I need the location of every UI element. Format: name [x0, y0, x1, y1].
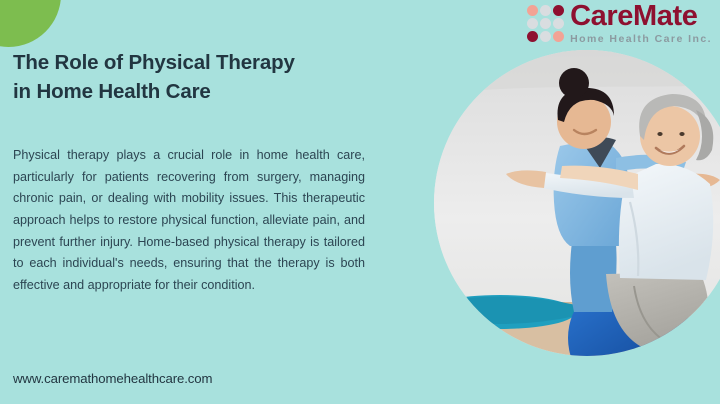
headline-line-1: The Role of Physical Therapy	[13, 51, 295, 74]
logo-dot	[553, 5, 564, 16]
logo-dot	[553, 31, 564, 42]
logo-dot	[553, 18, 564, 29]
page-title: The Role of Physical Therapy in Home Hea…	[13, 48, 368, 106]
logo-brand-name: CareMate	[570, 2, 697, 32]
headline-block: The Role of Physical Therapy in Home Hea…	[13, 48, 368, 106]
corner-accent-circle	[0, 0, 61, 47]
logo-dot	[540, 31, 551, 42]
logo-tagline: Home Health Care Inc.	[570, 34, 712, 45]
logo-wordmark: CareMate Home Health Care Inc.	[570, 2, 712, 44]
logo-dot	[527, 18, 538, 29]
logo-dot	[527, 5, 538, 16]
poster-canvas: CareMate Home Health Care Inc.	[0, 0, 720, 404]
website-url[interactable]: www.caremathomehealthcare.com	[13, 371, 212, 386]
logo-dot	[527, 31, 538, 42]
logo-dot	[540, 5, 551, 16]
logo-dot	[540, 18, 551, 29]
headline-line-2: in Home Health Care	[13, 80, 211, 103]
body-paragraph: Physical therapy plays a crucial role in…	[13, 145, 365, 297]
therapy-photo	[434, 50, 720, 356]
brand-logo[interactable]: CareMate Home Health Care Inc.	[527, 2, 712, 44]
logo-dot-grid-icon	[527, 5, 564, 42]
